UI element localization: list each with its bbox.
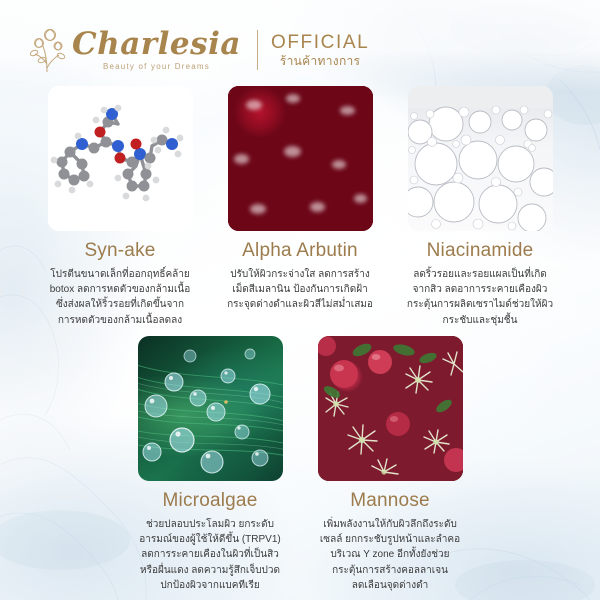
flower-icon — [28, 26, 68, 74]
card-description: เพิ่มพลังงานให้กับผิวลึกถึงระดับ เซลล์ ย… — [301, 517, 479, 593]
ingredient-card-syn-ake: Syn-ake โปรตีนขนาดเล็กที่ออกฤทธิ์คล้าย b… — [30, 86, 210, 328]
infographic-page: Charlesia Beauty of your Dreams OFFICIAL… — [0, 0, 600, 600]
foam-bubbles-graphic — [408, 86, 553, 231]
ingredient-row-bottom: Microalgae ช่วยปลอบประโลมผิว ยกระดับ อาร… — [0, 336, 600, 593]
brand-header: Charlesia Beauty of your Dreams OFFICIAL… — [28, 22, 369, 78]
brand-text-block: Charlesia Beauty of your Dreams — [72, 29, 241, 71]
ingredient-card-alpha-arbutin: Alpha Arbutin ปรับให้ผิวกระจ่างใส ลดการส… — [210, 86, 390, 328]
card-title: Syn-ake — [84, 240, 155, 262]
ingredient-card-mannose: Mannose เพิ่มพลังงานให้กับผิวลึกถึงระดับ… — [300, 336, 480, 593]
card-title: Niacinamide — [427, 240, 534, 262]
card-description: ปรับให้ผิวกระจ่างใส ลดการสร้าง เม็ดสีเมล… — [211, 267, 389, 313]
brand-tagline: Beauty of your Dreams — [103, 62, 210, 71]
card-title: Mannose — [350, 490, 430, 512]
card-description: ลดริ้วรอยและรอยแผลเป็นที่เกิด จากสิว ลดอ… — [391, 267, 569, 328]
blossom-cluster-graphic — [318, 336, 463, 481]
official-badge: OFFICIAL ร้านค้าทางการ — [271, 33, 369, 67]
molecule-image — [48, 86, 193, 231]
algae-filaments-graphic — [138, 336, 283, 481]
ingredient-card-niacinamide: Niacinamide ลดริ้วรอยและรอยแผลเป็นที่เกิ… — [390, 86, 570, 328]
header-divider — [257, 30, 258, 70]
card-description: โปรตีนขนาดเล็กที่ออกฤทธิ์คล้าย botox ลดก… — [31, 267, 209, 328]
card-title: Alpha Arbutin — [242, 240, 358, 262]
foam-bubbles-image — [408, 86, 553, 231]
official-label-en: OFFICIAL — [271, 33, 369, 52]
brand-name: Charlesia — [72, 29, 241, 60]
card-title: Microalgae — [163, 490, 258, 512]
cranberry-blossom-image — [318, 336, 463, 481]
ingredient-row-top: Syn-ake โปรตีนขนาดเล็กที่ออกฤทธิ์คล้าย b… — [0, 86, 600, 328]
cranberry-image — [228, 86, 373, 231]
algae-image — [138, 336, 283, 481]
official-label-th: ร้านค้าทางการ — [280, 55, 360, 67]
ingredient-card-microalgae: Microalgae ช่วยปลอบประโลมผิว ยกระดับ อาร… — [120, 336, 300, 593]
card-description: ช่วยปลอบประโลมผิว ยกระดับ อารมณ์ของผู้ใช… — [121, 517, 299, 593]
molecule-structure-icon — [48, 86, 193, 231]
